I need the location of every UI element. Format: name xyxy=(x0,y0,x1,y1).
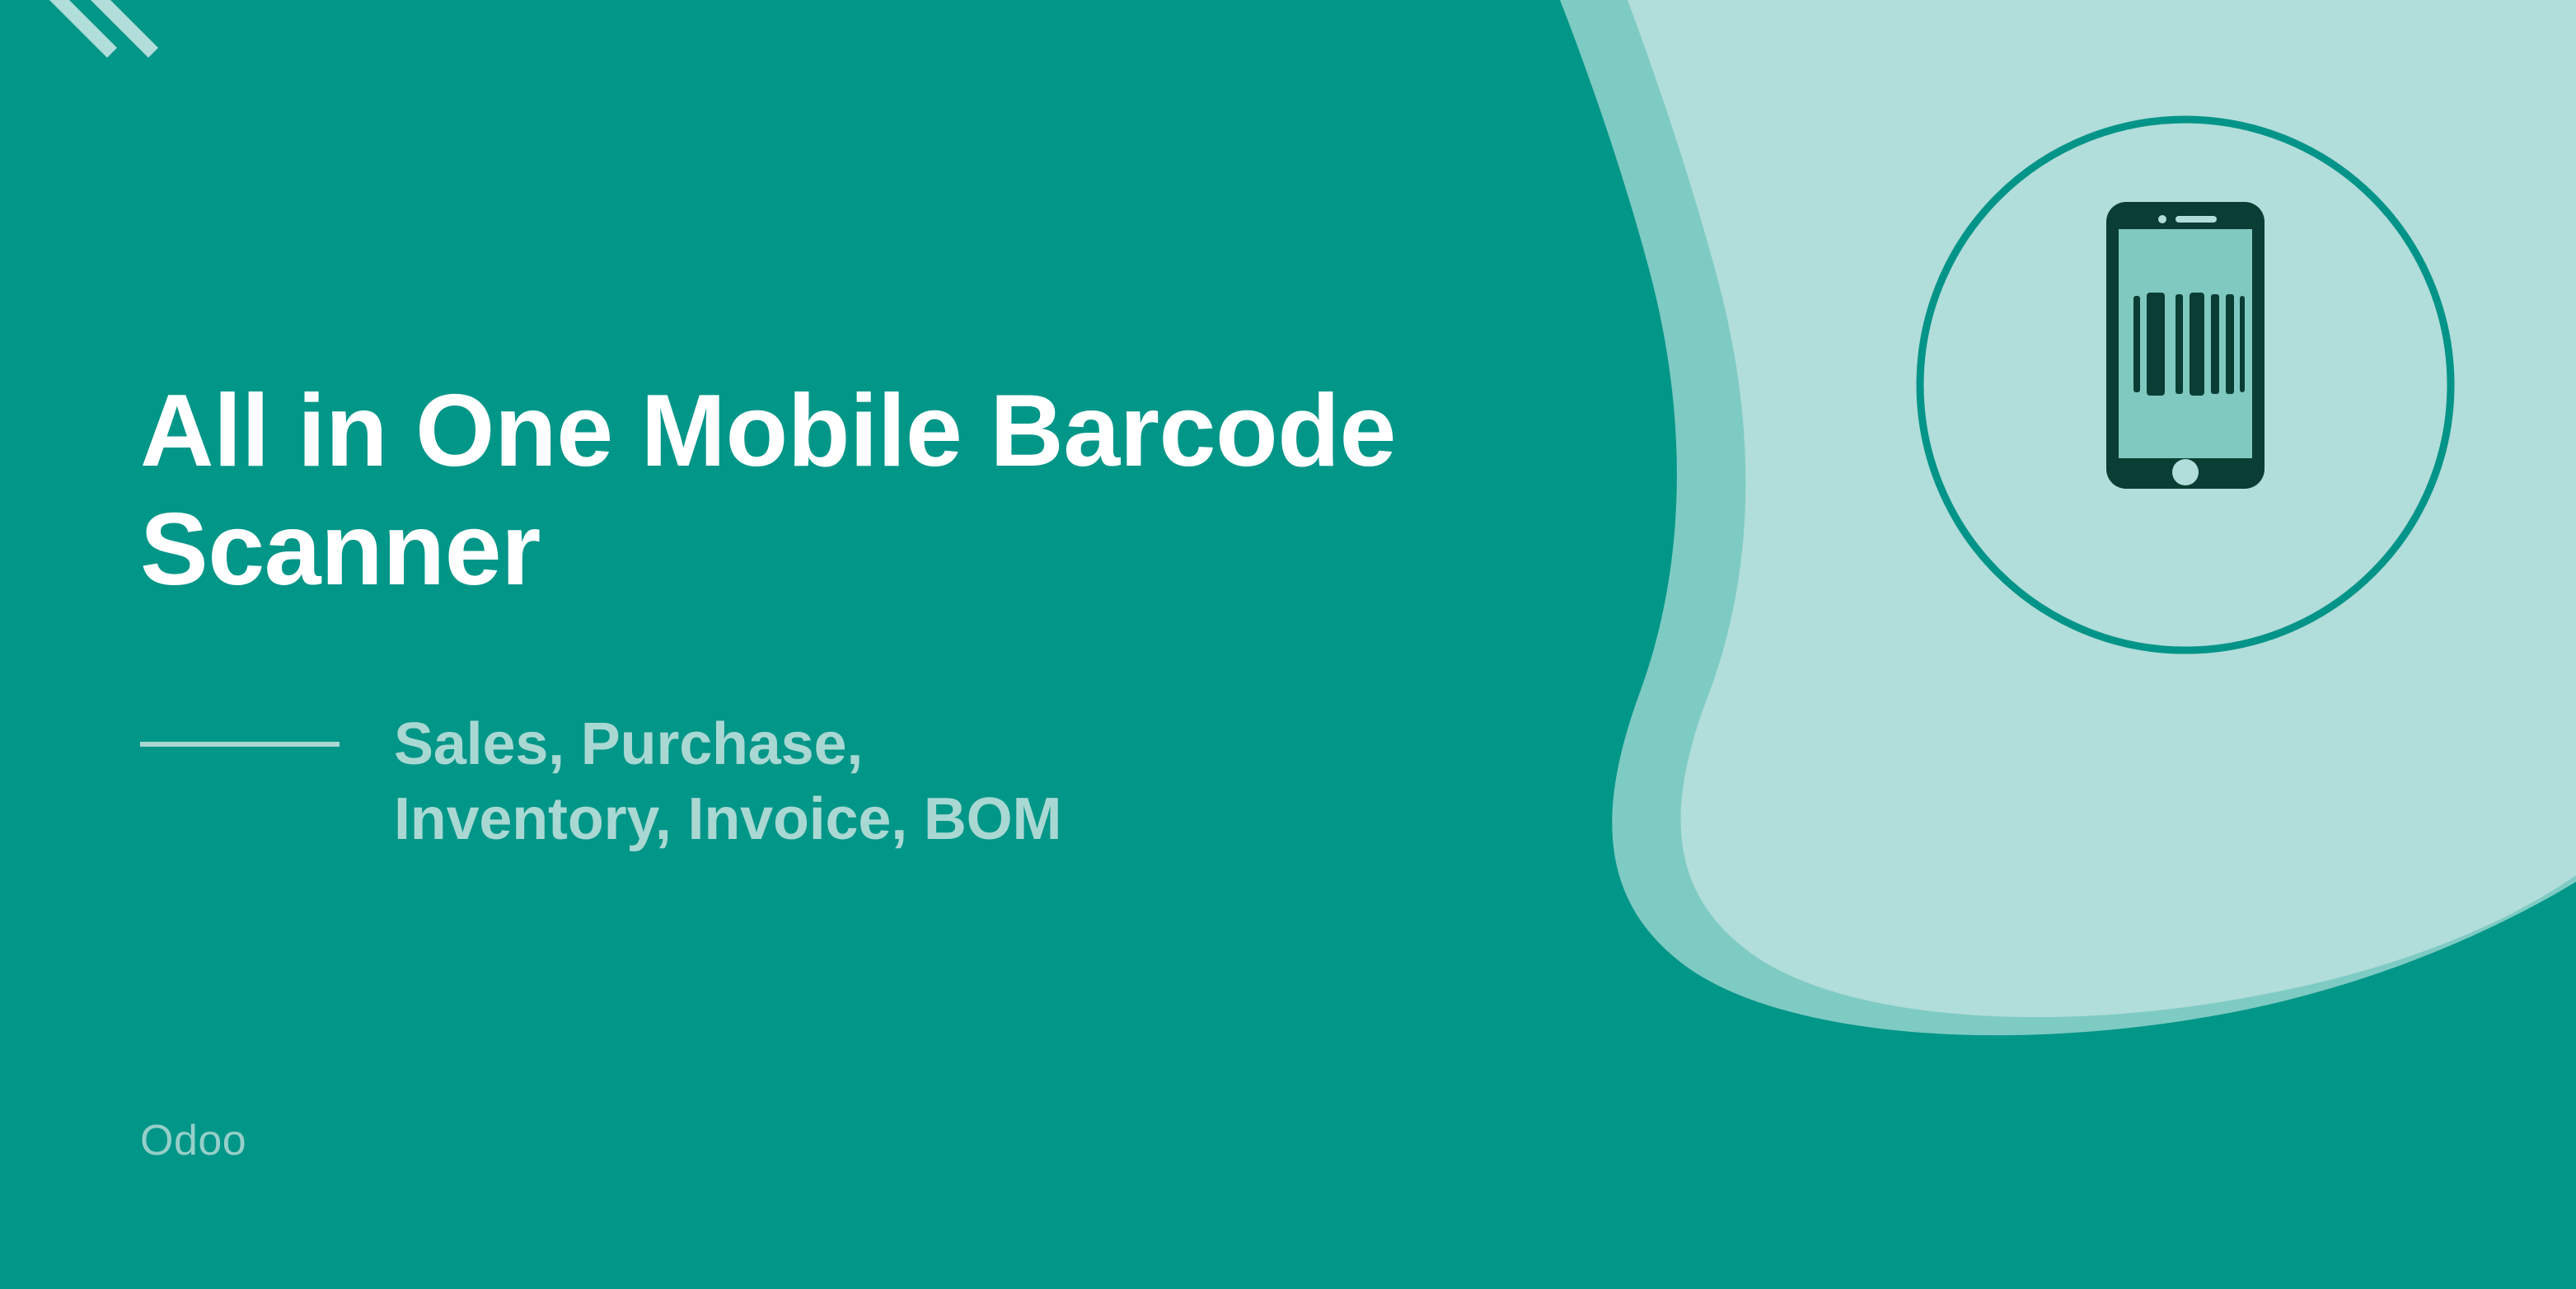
page-title: All in One Mobile Barcode Scanner xyxy=(140,373,1706,610)
text-content-block: All in One Mobile Barcode Scanner Sales,… xyxy=(140,0,1747,1289)
subtitle-rule-divider xyxy=(140,742,340,747)
slide-canvas: All in One Mobile Barcode Scanner Sales,… xyxy=(0,0,2576,1289)
brand-label: Odoo xyxy=(140,1119,246,1162)
subtitle-row: Sales, Purchase, Inventory, Invoice, BOM xyxy=(140,707,1706,856)
mobile-barcode-scanner-icon xyxy=(1913,113,2457,657)
page-subtitle: Sales, Purchase, Inventory, Invoice, BOM xyxy=(394,707,1078,856)
